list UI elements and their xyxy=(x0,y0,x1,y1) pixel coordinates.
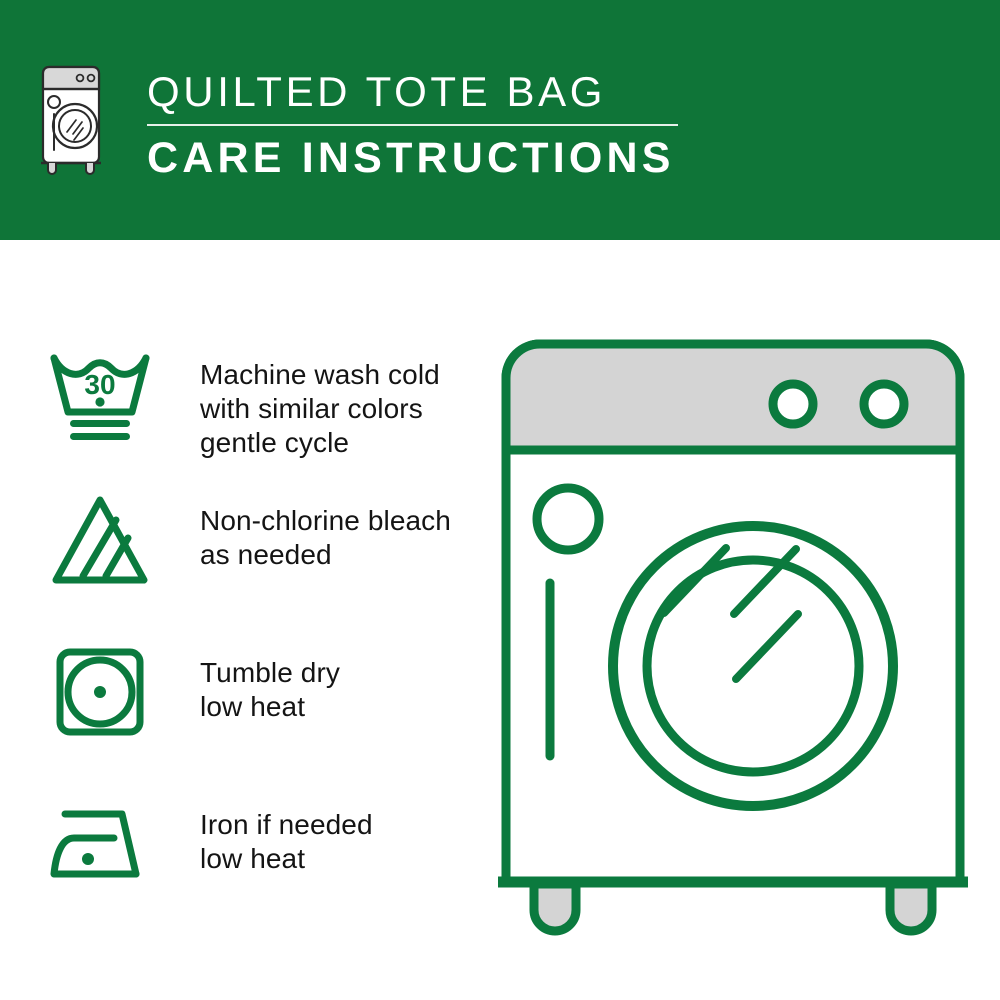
care-instruction-list: 30 Machine wash cold with similar colors… xyxy=(0,240,490,1000)
care-text-line: Tumble dry xyxy=(200,656,340,690)
care-text-line: Iron if needed xyxy=(200,808,373,842)
care-row-text: Non-chlorine bleach as needed xyxy=(200,492,451,572)
knob xyxy=(864,384,904,424)
care-instructions-infographic: QUILTED TOTE BAG CARE INSTRUCTIONS 30 xyxy=(0,0,1000,1000)
triangle-non-chlorine-bleach-icon xyxy=(48,492,152,592)
header-band: QUILTED TOTE BAG CARE INSTRUCTIONS xyxy=(0,0,1000,240)
care-text-line: with similar colors xyxy=(200,392,440,426)
leg xyxy=(890,884,932,931)
care-text-line: gentle cycle xyxy=(200,426,440,460)
page-subtitle: CARE INSTRUCTIONS xyxy=(147,132,847,184)
care-row-text: Iron if needed low heat xyxy=(200,796,373,876)
care-row-text: Machine wash cold with similar colors ge… xyxy=(200,346,440,460)
care-row-bleach: Non-chlorine bleach as needed xyxy=(48,492,478,592)
page-title: QUILTED TOTE BAG xyxy=(147,66,847,118)
leg xyxy=(534,884,576,931)
care-row-iron: Iron if needed low heat xyxy=(48,796,478,896)
care-text-line: low heat xyxy=(200,842,373,876)
front-load-washing-machine-illustration xyxy=(498,336,968,936)
care-row-text: Tumble dry low heat xyxy=(200,644,340,724)
knob xyxy=(773,384,813,424)
care-text-line: Machine wash cold xyxy=(200,358,440,392)
wash-tub-30-gentle-icon: 30 xyxy=(48,346,152,446)
care-row-tumble-dry: Tumble dry low heat xyxy=(48,644,478,744)
tumble-dry-low-heat-icon xyxy=(48,644,152,744)
iron-low-heat-icon xyxy=(48,796,152,896)
care-text-line: as needed xyxy=(200,538,451,572)
title-divider xyxy=(147,124,678,126)
care-row-machine-wash: 30 Machine wash cold with similar colors… xyxy=(48,346,478,460)
washing-machine-icon xyxy=(40,64,102,176)
indicator-light xyxy=(537,488,599,550)
care-text-line: Non-chlorine bleach xyxy=(200,504,451,538)
header-title-group: QUILTED TOTE BAG CARE INSTRUCTIONS xyxy=(147,66,847,184)
care-text-line: low heat xyxy=(200,690,340,724)
wash-temperature-label: 30 xyxy=(84,369,115,400)
